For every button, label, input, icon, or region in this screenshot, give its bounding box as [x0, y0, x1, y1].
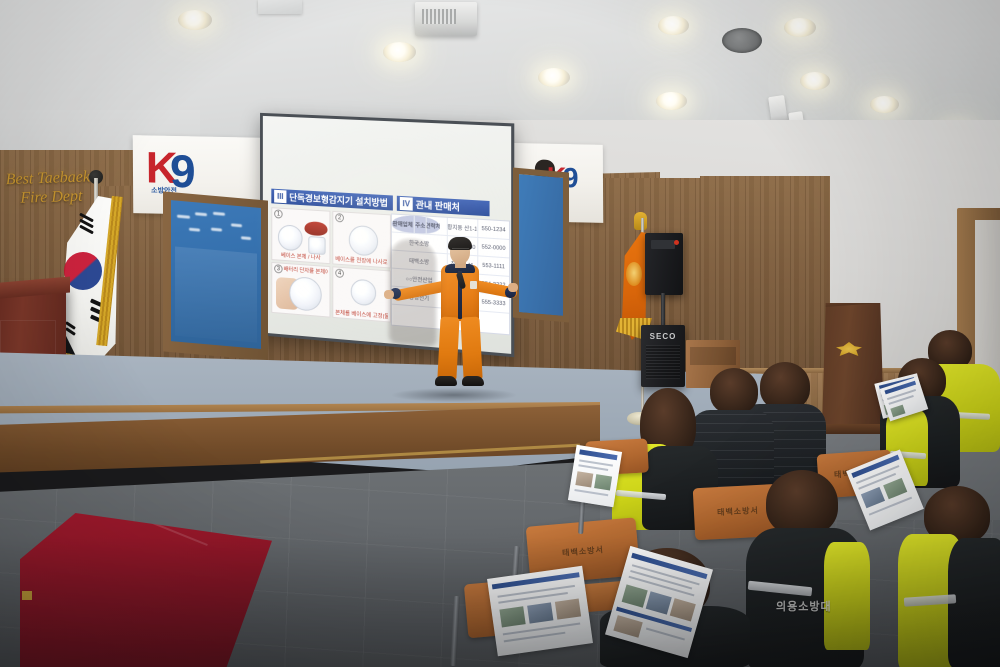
downlight [870, 96, 899, 113]
table-gold-tag [22, 591, 32, 600]
handout-image [890, 405, 905, 418]
handout-image [499, 606, 525, 627]
th-vendor: 판매업체 [392, 214, 415, 232]
amplifier-unit[interactable]: SECO [641, 325, 685, 387]
dept-flag-emblem [626, 262, 642, 286]
detector-twist-image [351, 279, 376, 307]
handout-image [575, 471, 593, 487]
light-reflection [189, 228, 200, 232]
wall-text-line1: Best Taebaek [5, 168, 90, 188]
power-led [674, 240, 679, 245]
downlight [784, 18, 816, 37]
td-phone: 550-1234 [478, 220, 509, 239]
handout-image [622, 584, 648, 607]
light-reflection [195, 212, 207, 216]
downlight [538, 68, 570, 87]
handout-image [646, 591, 672, 614]
presenter-firefighter [398, 238, 516, 396]
audience-person: 의용소방대 [746, 470, 866, 667]
presenter-leg-right [460, 317, 482, 380]
presenter-legs [438, 317, 482, 383]
handout-line [578, 464, 608, 470]
th-address: 주소 [415, 216, 427, 234]
handout-image [613, 615, 642, 638]
panel-caption: 배터리 단자를 본체에 연결 [284, 265, 328, 276]
panel-caption: 본체를 베이스에 고정(돌려끼움) [335, 308, 388, 320]
presenter-shoe-right [462, 376, 484, 386]
section-title: 관내 판매처 [416, 198, 460, 214]
hi-vis-vest [824, 542, 870, 650]
window-left [163, 191, 268, 360]
window-right-of-screen [513, 168, 569, 323]
glass-haze [175, 246, 257, 342]
handout-paper[interactable] [487, 566, 593, 657]
presenter-leg-left [437, 317, 459, 380]
handout-line [574, 489, 608, 496]
projector-mount [415, 2, 477, 36]
panel-number: 4 [335, 269, 344, 279]
pa-speaker [645, 233, 683, 295]
downlight [800, 72, 830, 90]
handout-line [646, 628, 685, 640]
slide-section-4-header: IV 관내 판매처 [397, 196, 490, 217]
handout-paper[interactable] [568, 445, 622, 508]
section-numeral: IV [400, 197, 413, 211]
audience-person [898, 486, 1000, 667]
handout-image [555, 599, 581, 620]
handout-image [670, 598, 696, 621]
red-draped-table [20, 513, 272, 667]
th-phone: 연락처 [427, 217, 439, 235]
panel-caption: 베이스를 천장에 나사로 고정 [335, 255, 388, 267]
hair [766, 470, 838, 536]
panel-number: 3 [274, 264, 283, 273]
detector-mounted-image [349, 225, 378, 257]
slide-panel-3: 3 배터리 단자를 본체에 연결 [271, 262, 330, 318]
detector-body-image [305, 221, 328, 236]
light-reflection [231, 223, 242, 227]
speaker-horn [651, 240, 675, 249]
light-reflection [213, 212, 225, 216]
downlight [656, 92, 687, 110]
section-title: 단독경보형감지기 설치방법 [289, 191, 388, 210]
ceiling-speaker [722, 28, 762, 53]
presenter-glasses [452, 248, 469, 252]
window-glass [171, 200, 261, 349]
downlight [383, 42, 416, 62]
handout-image [594, 474, 612, 490]
detector-base-image [278, 224, 303, 251]
downlight [178, 10, 212, 30]
panel-number: 1 [274, 209, 283, 218]
panel-number: 2 [335, 213, 344, 222]
handout-header [579, 449, 617, 460]
slide-section-3-header: III 단독경보형감지기 설치방법 [271, 189, 393, 211]
td-address: 황지동 산1-1 [447, 218, 478, 237]
downlight [658, 16, 689, 35]
handout-image [527, 602, 553, 623]
section-numeral: III [274, 190, 286, 203]
slide-panel-1: 1 베이스 본체 / 나사 [271, 207, 330, 264]
cabinet-shelf [690, 347, 736, 365]
amplifier-brand-label: SECO [641, 332, 685, 341]
presenter-badge [470, 281, 477, 289]
slide-panel-4: 4 본체를 베이스에 고정(돌려끼움) [332, 266, 391, 322]
vest-text: 의용소방대 [776, 598, 832, 614]
auditorium-scene: K 9 소방안전 2017 사대회 K 9 소방안전 III 단독경보형감지기 … [0, 0, 1000, 667]
handout-image [883, 478, 907, 499]
light-reflection [211, 228, 222, 232]
slide-panel-2: 2 베이스를 천장에 나사로 고정 [332, 211, 391, 269]
podium-right [822, 303, 884, 428]
presenter-left-hand [384, 290, 394, 299]
light-reflection [241, 236, 251, 240]
presenter-right-hand [508, 283, 518, 292]
presenter-shoe-left [435, 376, 457, 386]
amplifier-grille [646, 345, 680, 379]
handout-image [861, 487, 885, 508]
hvac-vent [258, 0, 302, 14]
light-reflection [177, 215, 190, 219]
